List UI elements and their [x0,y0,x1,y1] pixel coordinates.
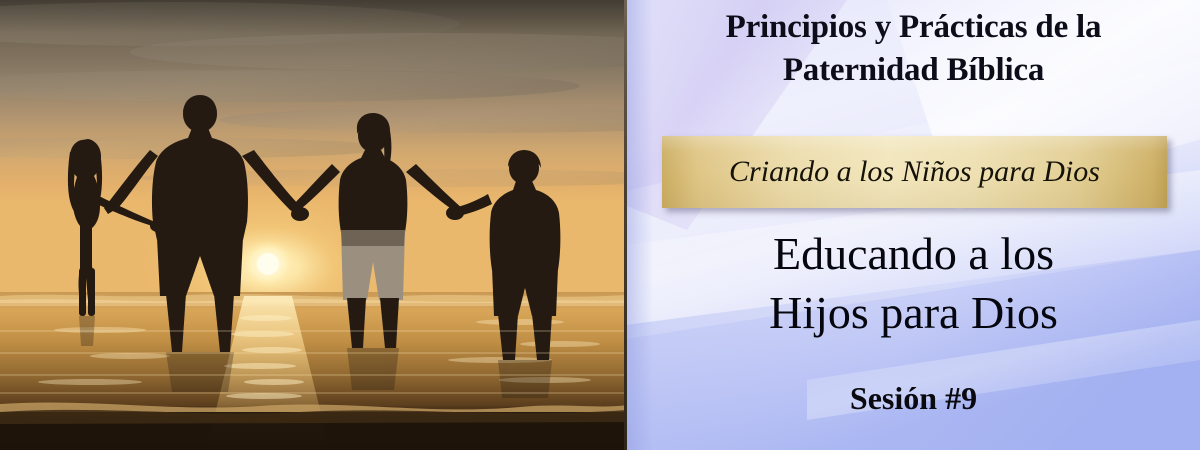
series-title-line-2: Paternidad Bíblica [635,49,1192,92]
session-heading: Educando a los Hijos para Dios [635,224,1192,342]
session-heading-line-1: Educando a los [635,224,1192,283]
series-title-line-1: Principios y Prácticas de la [635,6,1192,49]
session-heading-line-2: Hijos para Dios [635,283,1192,342]
banner-subtitle-text: Criando a los Niños para Dios [729,156,1100,188]
subtitle-banner: Criando a los Niños para Dios [662,136,1167,208]
series-title: Principios y Prácticas de la Paternidad … [635,6,1192,92]
beach-family-photo [0,0,627,450]
beach-sunset-illustration [0,0,627,450]
session-number-label: Sesión #9 [635,378,1192,418]
presentation-slide: Principios y Prácticas de la Paternidad … [0,0,1200,450]
title-panel: Principios y Prácticas de la Paternidad … [627,0,1200,450]
